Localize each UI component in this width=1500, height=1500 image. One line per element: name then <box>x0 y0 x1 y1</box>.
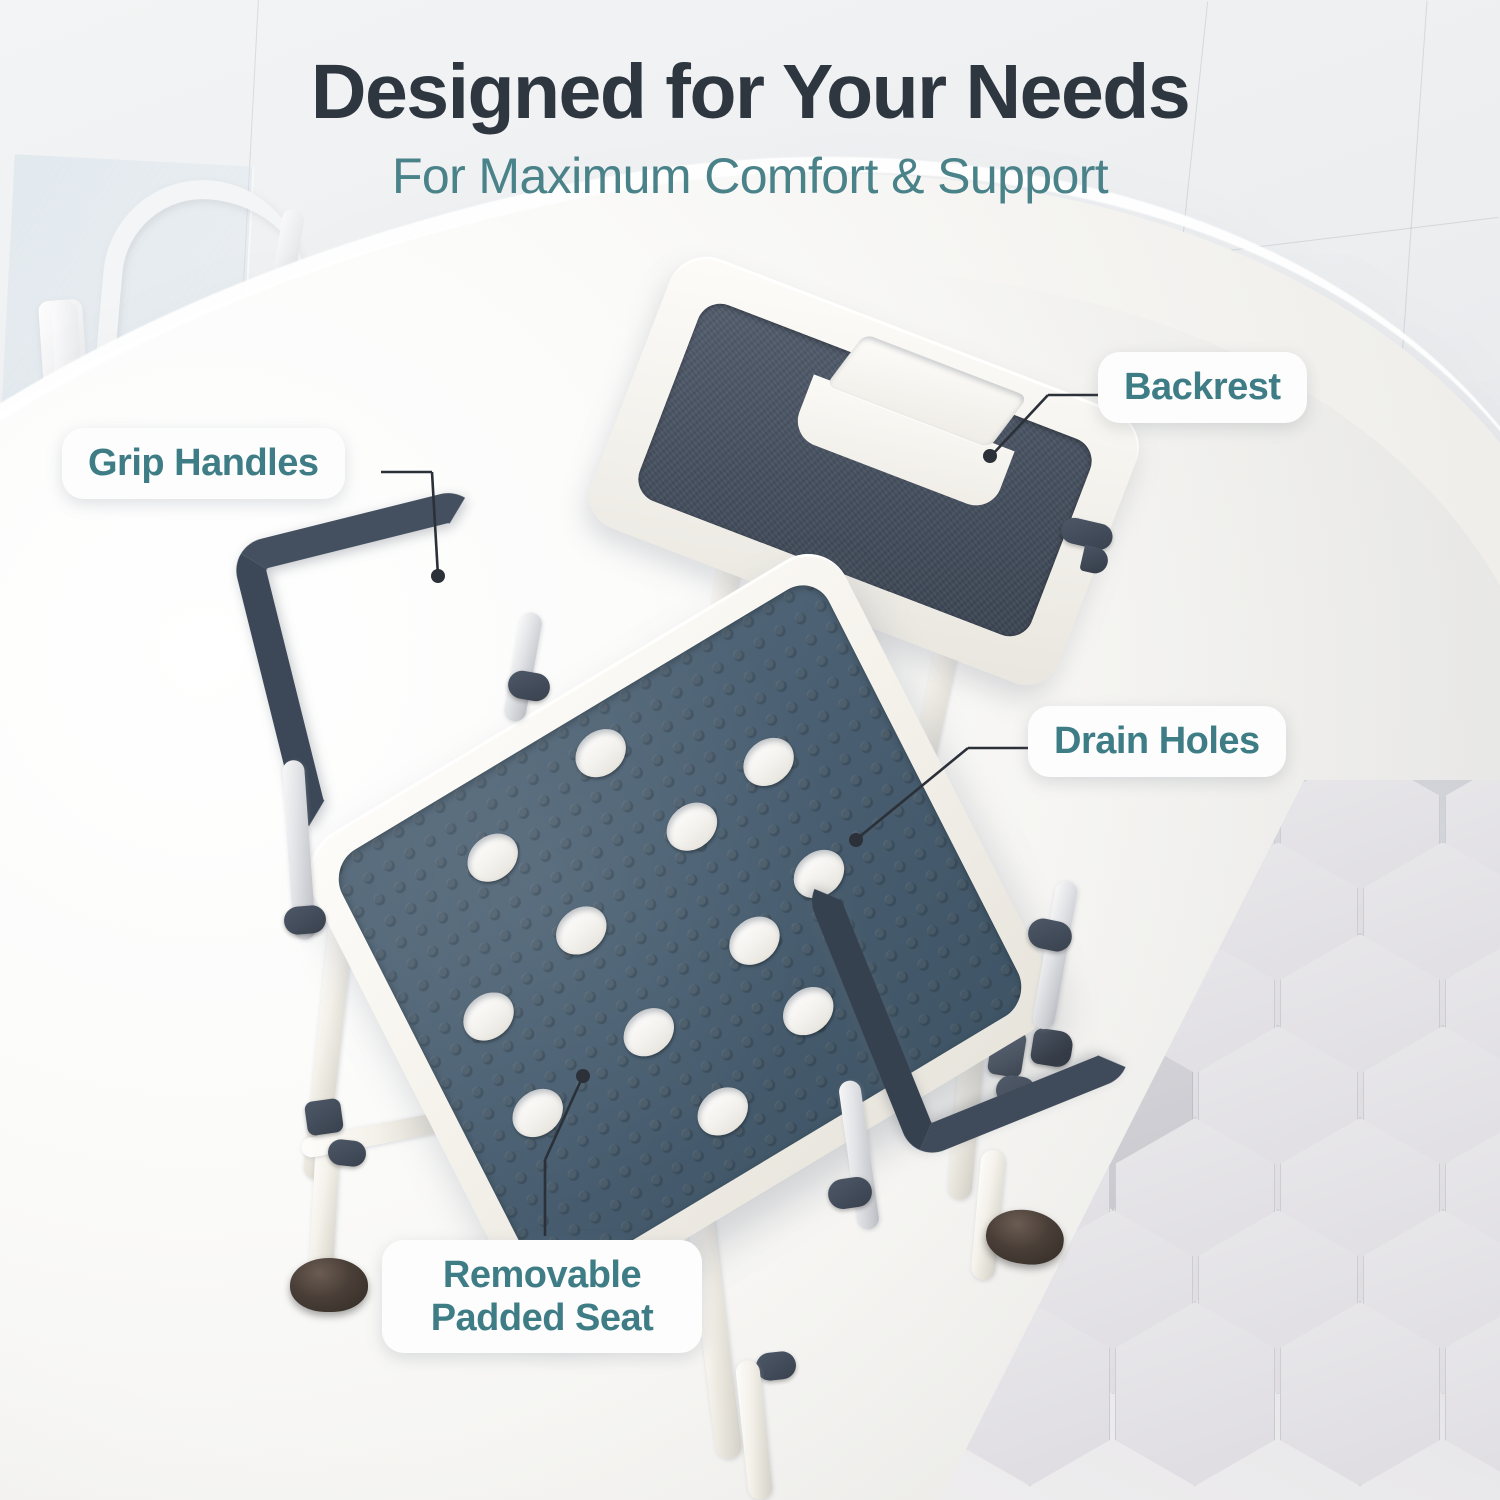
backrest-adjustment-knob-tail <box>1079 545 1110 576</box>
callout-grip-handles-label: Grip Handles <box>88 442 319 484</box>
callout-drain-holes-label: Drain Holes <box>1054 720 1260 762</box>
callout-grip-handles: Grip Handles <box>62 428 345 499</box>
callout-removable-padded-seat-line1: Removable <box>408 1254 676 1297</box>
page-title: Designed for Your Needs <box>0 52 1500 133</box>
callout-backrest-label: Backrest <box>1124 366 1281 408</box>
left-grip-post-rear <box>503 611 544 723</box>
left-grip-collar-lower <box>283 904 327 936</box>
callout-drain-holes: Drain Holes <box>1028 706 1286 777</box>
callout-removable-padded-seat-line2: Padded Seat <box>408 1297 676 1340</box>
callout-backrest: Backrest <box>1098 352 1307 423</box>
height-collar-center <box>755 1350 798 1382</box>
height-clamp-left <box>304 1098 344 1137</box>
page-subtitle: For Maximum Comfort & Support <box>0 147 1500 205</box>
rubber-foot-left <box>290 1258 368 1312</box>
callout-removable-padded-seat: Removable Padded Seat <box>382 1240 702 1353</box>
header: Designed for Your Needs For Maximum Comf… <box>0 52 1500 205</box>
